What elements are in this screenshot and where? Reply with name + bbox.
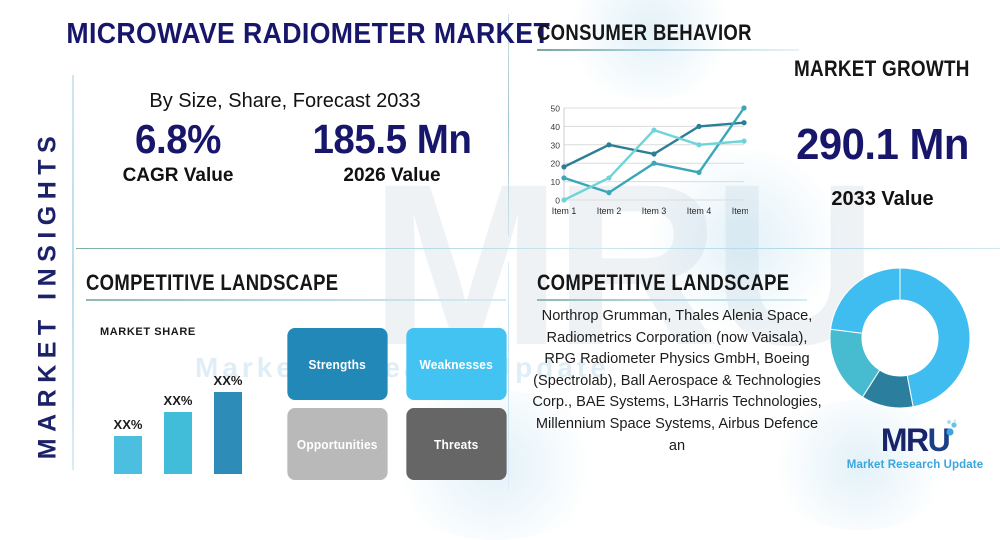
svg-text:Item 5: Item 5 <box>732 206 748 216</box>
donut-chart-segments <box>830 268 970 408</box>
infographic-canvas: MARKET INSIGHTS MICROWAVE RADIOMETER MAR… <box>0 0 1000 500</box>
line-chart-consumer-behavior: 01020304050 Item 1Item 2Item 3Item 4Item… <box>538 100 748 225</box>
page-title: MICROWAVE RADIOMETER MARKET <box>66 18 489 51</box>
logo-letter-r: R <box>906 422 928 458</box>
kpi-cagr-label: CAGR Value <box>84 165 272 187</box>
swot-grid: Strengths Weaknesses Opportunities Threa… <box>283 328 510 480</box>
companies-paragraph: Northrop Grumman, Thales Alenia Space, R… <box>532 306 822 457</box>
svg-text:30: 30 <box>551 140 561 150</box>
kpi-cagr: 6.8% CAGR Value <box>84 118 272 187</box>
svg-text:10: 10 <box>551 177 561 187</box>
divider-horizontal-middle <box>76 248 1000 249</box>
svg-text:Item 4: Item 4 <box>687 206 712 216</box>
kpi-2026: 185.5 Mn 2026 Value <box>282 118 502 187</box>
bar-chart-market-share: XX%XX%XX% <box>96 336 266 478</box>
brand-logo-mark: MRU <box>881 424 949 456</box>
swot-label-opportunities: Opportunities <box>297 437 378 452</box>
section-title-competitive-landscape-left: COMPETITIVE LANDSCAPE <box>86 270 439 296</box>
logo-bubbles-icon <box>945 419 958 436</box>
swot-label-weaknesses: Weaknesses <box>419 357 492 372</box>
section-competitive-landscape-right: COMPETITIVE LANDSCAPE <box>537 270 807 301</box>
kpi-2026-label: 2026 Value <box>282 165 502 187</box>
swot-box-threats[interactable]: Threats <box>406 408 506 480</box>
svg-text:XX%: XX% <box>214 373 243 388</box>
kpi-cagr-value: 6.8% <box>90 118 267 161</box>
donut-chart-svg <box>824 262 976 414</box>
section-rule-competitive-landscape-left <box>86 299 506 301</box>
svg-text:Item 1: Item 1 <box>552 206 577 216</box>
svg-text:XX%: XX% <box>114 417 143 432</box>
section-consumer-behavior: CONSUMER BEHAVIOR <box>537 20 799 51</box>
svg-text:50: 50 <box>551 104 561 114</box>
section-title-consumer-behavior: CONSUMER BEHAVIOR <box>537 20 757 46</box>
brand-logo-tagline: Market Research Update <box>845 459 985 471</box>
section-title-competitive-landscape-right: COMPETITIVE LANDSCAPE <box>537 270 764 296</box>
line-chart-svg: 01020304050 Item 1Item 2Item 3Item 4Item… <box>538 100 748 225</box>
market-growth-title: MARKET GROWTH <box>794 56 966 82</box>
swot-box-weaknesses[interactable]: Weaknesses <box>406 328 506 400</box>
donut-chart-market-share <box>824 262 976 414</box>
line-chart-y-tick-labels: 01020304050 <box>551 104 561 206</box>
svg-text:40: 40 <box>551 122 561 132</box>
line-chart-series-group <box>561 105 746 202</box>
swot-box-opportunities[interactable]: Opportunities <box>287 408 387 480</box>
svg-text:20: 20 <box>551 159 561 169</box>
logo-letter-m: M <box>881 422 906 458</box>
svg-text:XX%: XX% <box>164 393 193 408</box>
bar-chart-svg: XX%XX%XX% <box>96 336 266 478</box>
section-rule-competitive-landscape-right <box>537 299 807 301</box>
market-growth-label: 2033 Value <box>775 188 990 211</box>
section-competitive-landscape-left: COMPETITIVE LANDSCAPE <box>86 270 506 301</box>
divider-vertical-left <box>72 75 74 470</box>
brand-logo: MRU Market Research Update <box>845 424 985 471</box>
kpi-2026-value: 185.5 Mn <box>289 118 496 161</box>
section-rule-consumer-behavior <box>537 49 799 51</box>
swot-box-strengths[interactable]: Strengths <box>287 328 387 400</box>
page-subtitle: By Size, Share, Forecast 2033 <box>85 90 485 113</box>
svg-text:Item 2: Item 2 <box>597 206 622 216</box>
swot-label-threats: Threats <box>433 437 478 452</box>
side-label-market-insights: MARKET INSIGHTS <box>34 105 63 485</box>
market-growth-value: 290.1 Mn <box>780 120 984 170</box>
line-chart-x-tick-labels: Item 1Item 2Item 3Item 4Item 5 <box>552 206 748 216</box>
svg-text:0: 0 <box>555 196 560 206</box>
svg-text:Item 3: Item 3 <box>642 206 667 216</box>
swot-label-strengths: Strengths <box>309 357 366 372</box>
